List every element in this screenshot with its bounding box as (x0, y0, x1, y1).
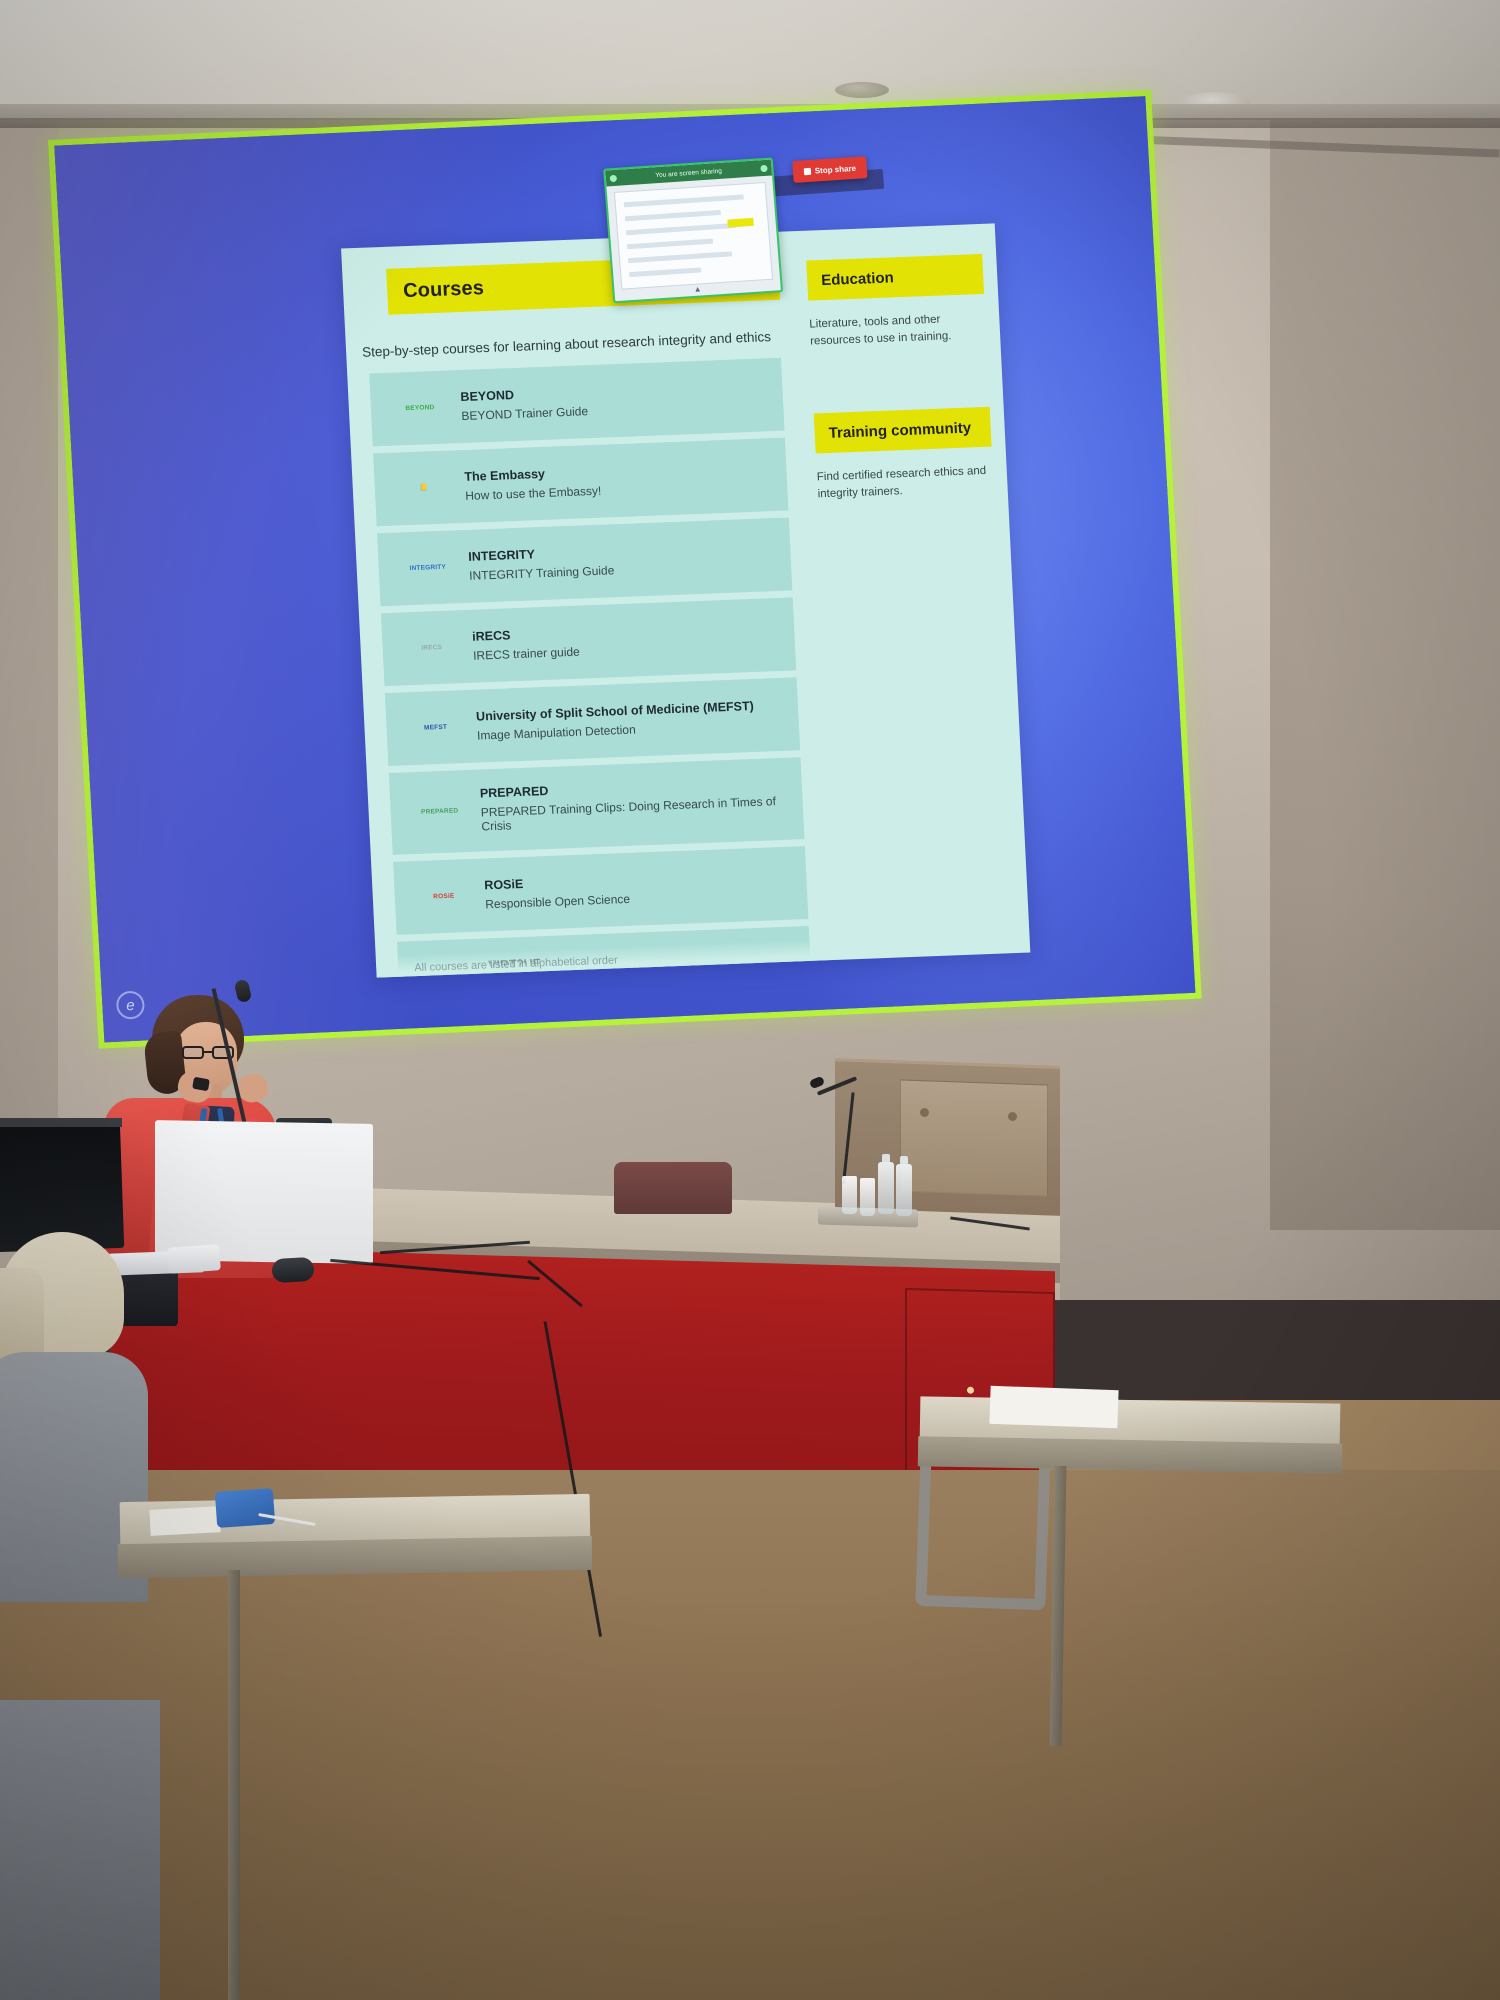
ceiling-vent-icon (835, 82, 889, 98)
screen-share-panel[interactable]: You are screen sharing ▲ (603, 157, 783, 303)
sidebar-section-body: Find certified research ethics and integ… (816, 463, 988, 503)
paper-sheet (149, 1506, 220, 1536)
control-remote[interactable] (167, 1244, 221, 1274)
course-list: BEYONDBEYONDBEYOND Trainer Guide📒The Emb… (369, 357, 812, 977)
lecture-hall-photo: e Courses Step-by-step courses for learn… (0, 0, 1500, 2000)
course-logo-icon: ROSiE (412, 882, 475, 910)
sidebar-section-header[interactable]: Training community (814, 407, 992, 454)
sidebar-section-heading: Education (821, 269, 894, 289)
water-bottle (896, 1164, 912, 1216)
laptop[interactable] (155, 1120, 373, 1264)
course-logo-icon: MEFST (404, 713, 467, 741)
sidebar-section-header[interactable]: Education (806, 254, 984, 301)
course-logo-icon: iRECS (400, 633, 463, 661)
course-title: The Embassy (464, 464, 601, 483)
page-title: Courses (387, 277, 485, 304)
projection-screen-surface: e Courses Step-by-step courses for learn… (54, 96, 1195, 1042)
cabinet-knob-icon (967, 1387, 974, 1394)
course-subtitle: BEYOND Trainer Guide (461, 404, 588, 423)
screen-share-banner-label: You are screen sharing (621, 165, 757, 181)
course-row[interactable]: ROSiEROSiEResponsible Open Science (393, 846, 808, 935)
course-subtitle: IRECS trainer guide (473, 644, 580, 662)
wall-right-panel (1270, 120, 1500, 1230)
lectern-knob-icon (920, 1108, 929, 1117)
smartphone[interactable] (215, 1488, 275, 1528)
course-logo-icon: BEYOND (388, 393, 451, 421)
share-options-icon[interactable] (760, 164, 768, 171)
share-status-dot-icon (610, 174, 618, 181)
intro-text: Step-by-step courses for learning about … (362, 328, 781, 362)
computer-mouse[interactable] (271, 1257, 314, 1283)
course-title: ROSiE (484, 872, 629, 892)
chair-behind-stage (614, 1162, 732, 1214)
course-row[interactable]: MEFSTUniversity of Split School of Medic… (385, 677, 800, 766)
course-logo-icon: PREPARED (408, 797, 471, 825)
course-row[interactable]: 📒The EmbassyHow to use the Embassy! (373, 437, 788, 526)
course-subtitle: How to use the Embassy! (465, 483, 602, 502)
course-title: iRECS (472, 625, 579, 643)
slide-page: Courses Step-by-step courses for learnin… (341, 223, 1030, 977)
lectern-front-panel (900, 1079, 1048, 1196)
course-subtitle: PREPARED Training Clips: Doing Research … (480, 794, 793, 834)
course-subtitle: Responsible Open Science (485, 891, 630, 911)
audience-member-lower-body (0, 1700, 160, 2000)
course-row[interactable]: INTEGRITYINTEGRITYINTEGRITY Training Gui… (377, 517, 792, 606)
course-row[interactable]: BEYONDBEYONDBEYOND Trainer Guide (369, 357, 784, 446)
paper-sheet (989, 1386, 1118, 1428)
presentation-clicker[interactable] (192, 1077, 210, 1092)
slide-sidebar: EducationLiterature, tools and other res… (793, 223, 1031, 960)
lectern-knob-icon (1008, 1112, 1017, 1121)
wall-left-column (0, 120, 58, 1240)
course-row[interactable]: PREPAREDPREPAREDPREPARED Training Clips:… (389, 757, 805, 855)
stop-share-label: Stop share (814, 163, 856, 175)
shared-window-preview (614, 182, 773, 290)
chevron-up-icon[interactable]: ▲ (693, 284, 702, 294)
course-row[interactable]: iRECSiRECSIRECS trainer guide (381, 597, 796, 686)
course-logo-icon: 📒 (392, 473, 455, 501)
water-glass (842, 1176, 857, 1214)
course-subtitle: INTEGRITY Training Guide (469, 563, 615, 583)
desk-leg (228, 1570, 240, 2000)
water-glass (860, 1178, 875, 1216)
stop-square-icon (803, 167, 811, 174)
course-title: BEYOND (460, 385, 587, 404)
course-logo-icon: INTEGRITY (396, 553, 459, 581)
slide-main-column: Courses Step-by-step courses for learnin… (341, 231, 828, 977)
water-bottle (878, 1162, 894, 1214)
foreground-chair-right (915, 1446, 1051, 1610)
course-title: INTEGRITY (468, 544, 614, 564)
monitor-bezel (0, 1118, 122, 1127)
projection-screen: e Courses Step-by-step courses for learn… (48, 90, 1202, 1049)
sidebar-section-heading: Training community (828, 419, 971, 441)
